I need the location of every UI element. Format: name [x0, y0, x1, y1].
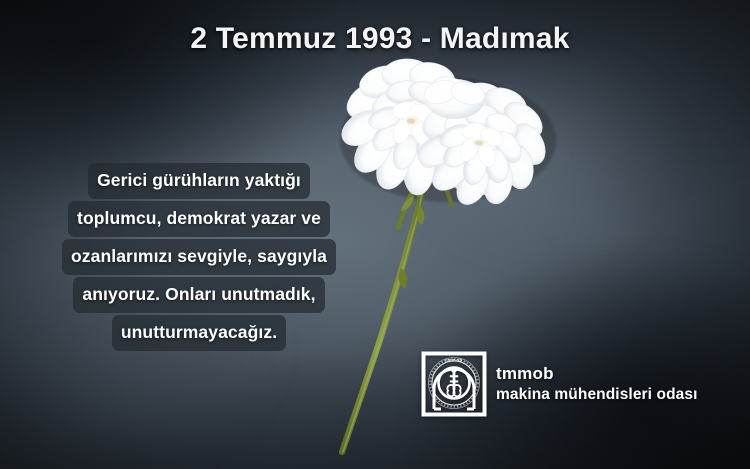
- quote-line-text: ozanlarımızı sevgiyle, saygıyla: [62, 239, 336, 275]
- memorial-poster: 2 Temmuz 1993 - Madımak Gerici gürühları…: [0, 0, 750, 469]
- quote-line: Gerici gürühların yaktığı: [40, 163, 358, 199]
- logo-wordmark: tmmob makina mühendisleri odası: [496, 363, 697, 405]
- quote-line: ozanlarımızı sevgiyle, saygıyla: [40, 239, 358, 275]
- logo-line-2: makina mühendisleri odası: [496, 385, 697, 405]
- page-title: 2 Temmuz 1993 - Madımak: [0, 22, 750, 56]
- quote-line: toplumcu, demokrat yazar ve: [40, 201, 358, 237]
- emblem-caption: tmmob: [445, 358, 462, 363]
- quote-line-text: toplumcu, demokrat yazar ve: [68, 201, 330, 237]
- quote-line-text: unutturmayacağız.: [112, 315, 286, 351]
- organization-logo: tmmob tmmob makina mühendisleri odası: [421, 351, 697, 417]
- quote-line-text: Gerici gürühların yaktığı: [88, 163, 310, 199]
- quote-line-text: anıyoruz. Onları unutmadık,: [73, 277, 324, 313]
- logo-line-1: tmmob: [496, 363, 697, 385]
- quote-line: unutturmayacağız.: [40, 315, 358, 351]
- memorial-quote: Gerici gürühların yaktığı toplumcu, demo…: [40, 163, 358, 353]
- quote-line: anıyoruz. Onları unutmadık,: [40, 277, 358, 313]
- tmmob-emblem-icon: tmmob: [421, 351, 487, 417]
